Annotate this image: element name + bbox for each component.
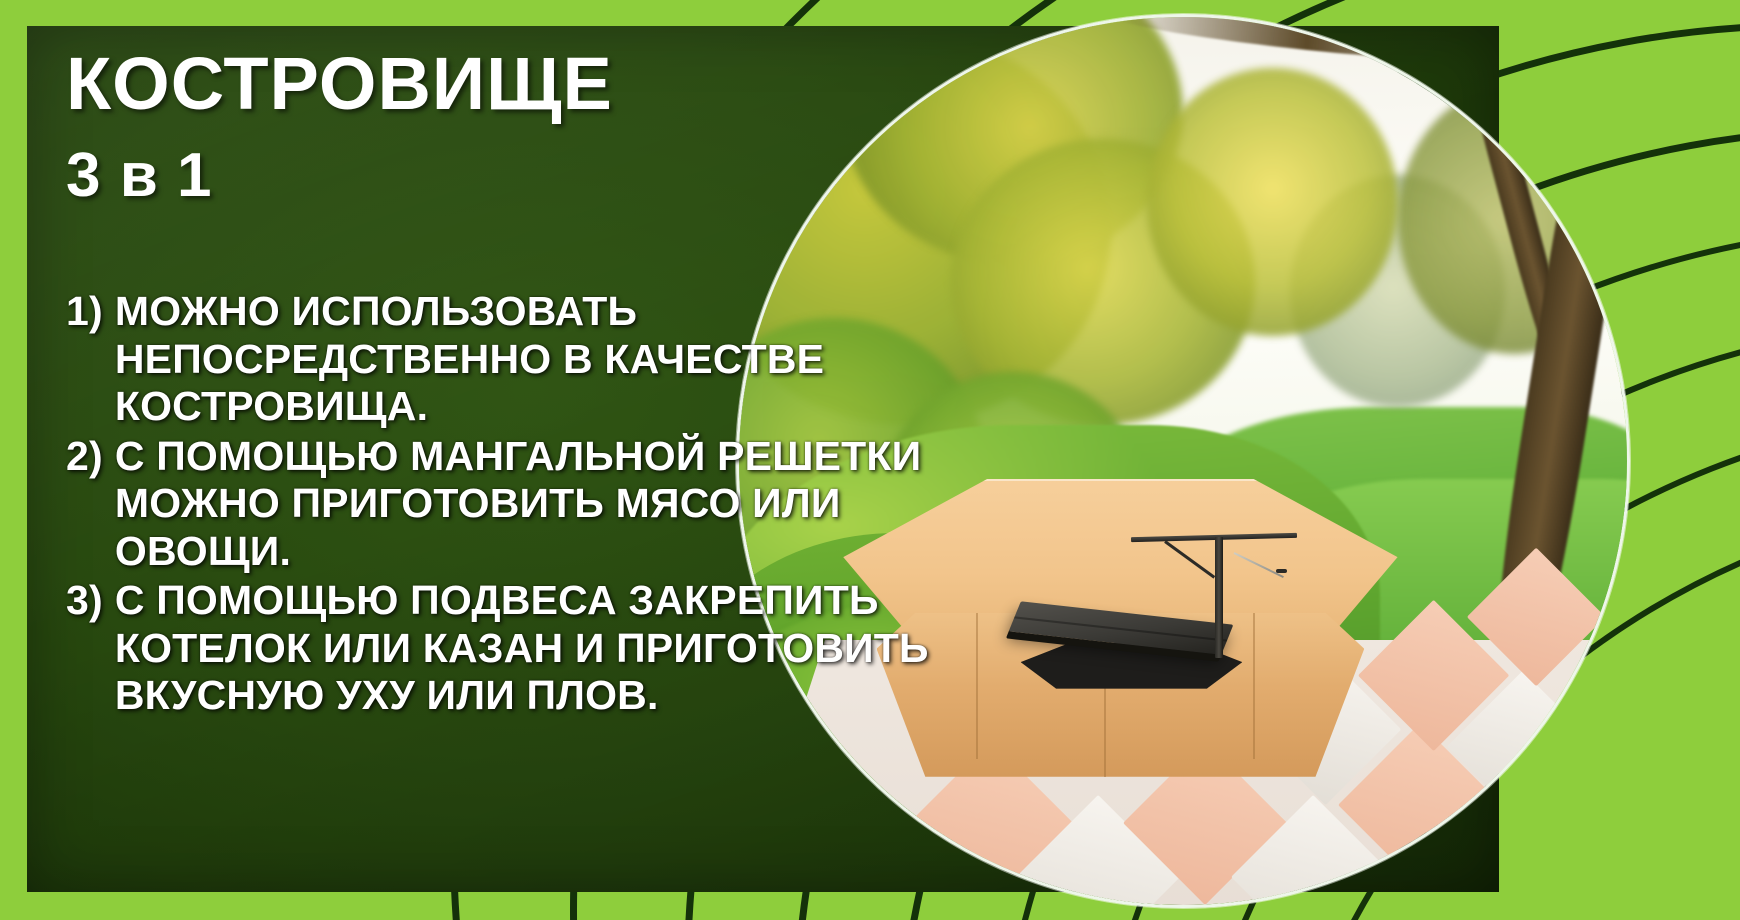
- list-item-marker: 2): [66, 433, 115, 576]
- list-item-text: С помощью подвеса закрепить котелок или …: [115, 577, 966, 720]
- text-layer: КОСТРОВИЩЕ 3 в 1 1) Можно использовать н…: [0, 0, 1740, 920]
- poster-root: КОСТРОВИЩЕ 3 в 1 1) Можно использовать н…: [0, 0, 1740, 920]
- list-item-text: Можно использовать непосредственно в кач…: [115, 288, 966, 431]
- list-item-marker: 3): [66, 577, 115, 720]
- list-item: 3) С помощью подвеса закрепить котелок и…: [66, 577, 966, 720]
- list-item-text: С помощью мангальной решетки можно приго…: [115, 433, 966, 576]
- feature-list: 1) Можно использовать непосредственно в …: [66, 288, 966, 722]
- list-item-marker: 1): [66, 288, 115, 431]
- poster-subtitle: 3 в 1: [66, 140, 213, 211]
- list-item: 2) С помощью мангальной решетки можно пр…: [66, 433, 966, 576]
- poster-title: КОСТРОВИЩЕ: [66, 48, 613, 121]
- list-item: 1) Можно использовать непосредственно в …: [66, 288, 966, 431]
